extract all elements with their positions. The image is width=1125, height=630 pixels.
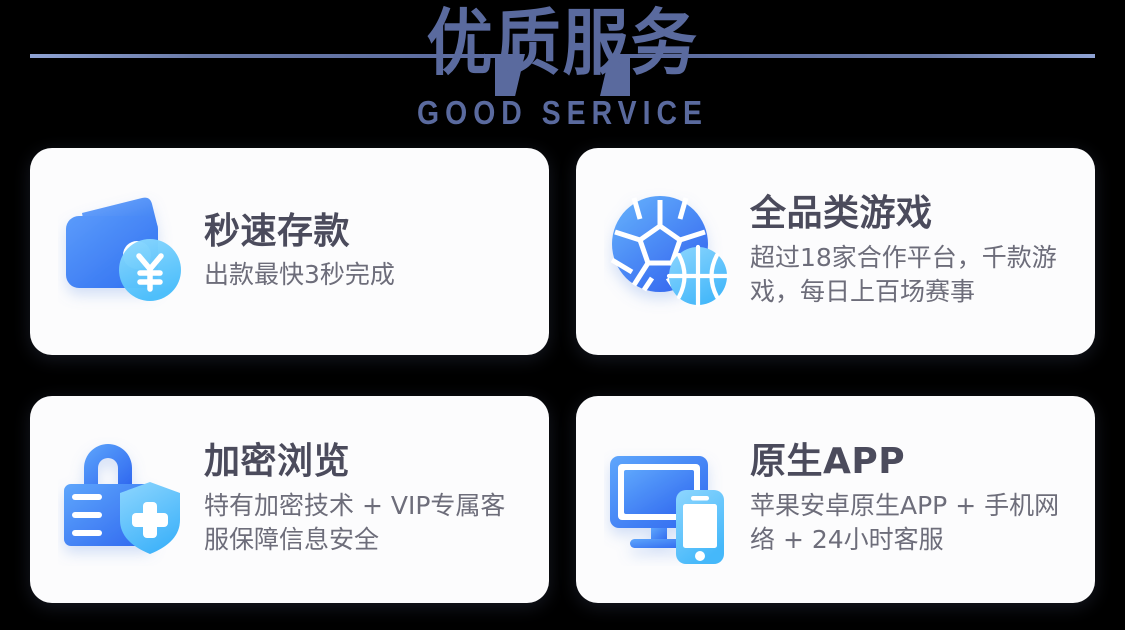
card-description: 超过18家合作平台，千款游戏，每日上百场赛事 bbox=[750, 241, 1073, 310]
promo-page: 优质服务 GOOD SERVICE bbox=[0, 0, 1125, 630]
page-header: 优质服务 GOOD SERVICE bbox=[0, 0, 1125, 142]
card-title: 秒速存款 bbox=[204, 211, 527, 252]
card-description: 苹果安卓原生APP + 手机网络 + 24小时客服 bbox=[750, 489, 1073, 558]
card-title: 全品类游戏 bbox=[750, 193, 1073, 234]
lock-shield-icon bbox=[58, 434, 190, 566]
card-text-block: 全品类游戏 超过18家合作平台，千款游戏，每日上百场赛事 bbox=[750, 193, 1073, 309]
wallet-yen-icon bbox=[58, 186, 190, 318]
card-text-block: 加密浏览 特有加密技术 + VIP专属客服保障信息安全 bbox=[204, 441, 527, 557]
feature-card-deposit[interactable]: 秒速存款 出款最快3秒完成 bbox=[30, 148, 549, 355]
card-text-block: 秒速存款 出款最快3秒完成 bbox=[204, 211, 527, 293]
monitor-phone-icon bbox=[604, 434, 736, 566]
feature-card-native-app[interactable]: 原生APP 苹果安卓原生APP + 手机网络 + 24小时客服 bbox=[576, 396, 1095, 603]
card-text-block: 原生APP 苹果安卓原生APP + 手机网络 + 24小时客服 bbox=[750, 441, 1073, 557]
card-description: 特有加密技术 + VIP专属客服保障信息安全 bbox=[204, 489, 527, 558]
card-title: 原生APP bbox=[750, 441, 1073, 482]
feature-card-games[interactable]: 全品类游戏 超过18家合作平台，千款游戏，每日上百场赛事 bbox=[576, 148, 1095, 355]
soccer-basketball-icon bbox=[604, 186, 736, 318]
card-description: 出款最快3秒完成 bbox=[204, 258, 527, 293]
feature-card-encryption[interactable]: 加密浏览 特有加密技术 + VIP专属客服保障信息安全 bbox=[30, 396, 549, 603]
page-title: 优质服务 bbox=[45, 6, 1080, 82]
card-title: 加密浏览 bbox=[204, 441, 527, 482]
page-subtitle: GOOD SERVICE bbox=[79, 94, 1047, 132]
feature-card-grid: 秒速存款 出款最快3秒完成 bbox=[30, 148, 1095, 603]
